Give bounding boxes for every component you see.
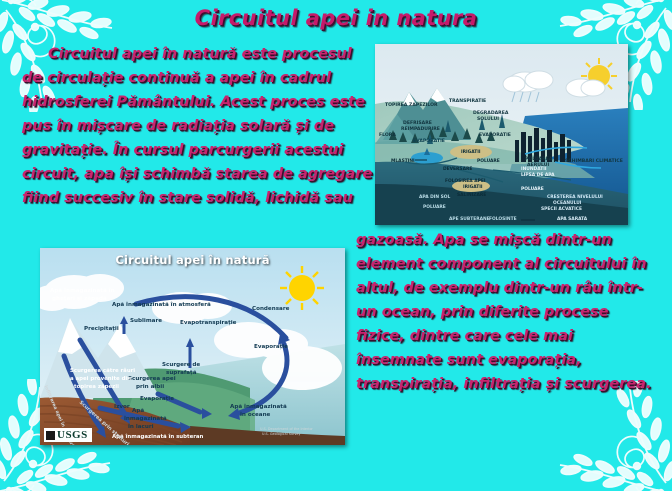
svg-text:prin albii: prin albii (136, 384, 164, 390)
svg-text:topirea zăpezii: topirea zăpezii (74, 384, 119, 390)
svg-text:POLUAREA: POLUAREA (525, 156, 553, 162)
svg-text:SALINIZARE: SALINIZARE (457, 192, 486, 198)
svg-text:Apă înmagazinată: Apă înmagazinată (230, 403, 287, 410)
svg-text:INUNDATII: INUNDATII (521, 166, 547, 172)
svg-text:a apei provenite din: a apei provenite din (70, 376, 131, 382)
svg-text:Condensare: Condensare (252, 306, 290, 312)
paragraph-right: gazoasă. Apa se mișcă dintr-un element c… (356, 228, 656, 396)
svg-text:U.S. Department of the Interio: U.S. Department of the Interior (260, 427, 313, 431)
svg-text:Apă înmagazinată în atmosferă: Apă înmagazinată în atmosferă (112, 301, 211, 308)
svg-text:IRIGATII: IRIGATII (463, 184, 483, 190)
svg-text:Precipitații: Precipitații (84, 326, 119, 332)
svg-text:Scurgerea către râuri: Scurgerea către râuri (70, 367, 135, 374)
slide-canvas: Circuitul apei in natura Circuitul apei … (0, 0, 672, 491)
svg-text:Apă înmagazinată în: Apă înmagazinată în (50, 287, 115, 294)
svg-text:SPECII ACVATICE: SPECII ACVATICE (541, 206, 582, 212)
svg-text:APE SUBTERANE: APE SUBTERANE (449, 216, 490, 222)
svg-text:EVAPORATIE: EVAPORATIE (413, 138, 445, 144)
image-usgs-water-cycle[interactable]: Apă înmagazinată în ghețari și zăpadă Ap… (40, 248, 345, 445)
usgs-logo: USGS (44, 428, 92, 442)
svg-text:FOLOSINTE: FOLOSINTE (489, 216, 517, 222)
paragraph-left: Circuitul apei în natură este procesul d… (22, 42, 374, 210)
svg-text:în lacuri: în lacuri (127, 423, 154, 430)
svg-text:TOPIREA ZAPEZILOR: TOPIREA ZAPEZILOR (385, 102, 438, 108)
svg-text:Evaporație: Evaporație (140, 396, 174, 402)
svg-text:DEVERSARE: DEVERSARE (443, 166, 472, 172)
svg-text:SCHIMBARI CLIMATICE: SCHIMBARI CLIMATICE (565, 158, 623, 164)
svg-text:IRIGATII: IRIGATII (461, 149, 481, 155)
svg-text:înmagazinată: înmagazinată (123, 415, 167, 422)
svg-text:TRANSPIRATIE: TRANSPIRATIE (449, 98, 486, 104)
svg-text:Evapotranspirație: Evapotranspirație (180, 320, 237, 326)
svg-text:Apă: Apă (132, 408, 144, 414)
svg-text:POLUARE: POLUARE (521, 186, 544, 192)
page-title: Circuitul apei in natura (0, 6, 672, 30)
svg-text:ghețari și zăpadă: ghețari și zăpadă (52, 296, 107, 302)
ornament-bottom-right-icon (538, 381, 672, 491)
svg-text:REIMPADURIRE: REIMPADURIRE (401, 126, 440, 132)
svg-text:LIPSA DE APA: LIPSA DE APA (521, 172, 555, 178)
image-water-cycle-human-impact[interactable]: TOPIREA ZAPEZILOR TRANSPIRATIE DEGRADARE… (375, 44, 628, 225)
svg-text:U.S. Geological Survey: U.S. Geological Survey (262, 432, 301, 436)
svg-text:Evaporație: Evaporație (254, 344, 288, 350)
svg-text:Sublimare: Sublimare (130, 318, 162, 324)
image-caption: Circuitul apei în natură (40, 253, 345, 267)
svg-text:FLORA: FLORA (379, 132, 396, 138)
svg-text:CRESTEREA NIVELULUI: CRESTEREA NIVELULUI (547, 194, 603, 200)
svg-text:Scurgere de: Scurgere de (162, 362, 200, 368)
svg-text:OCEANULUI: OCEANULUI (553, 200, 582, 206)
svg-text:POLUARE: POLUARE (423, 204, 446, 210)
svg-text:SOLULUI: SOLULUI (477, 116, 499, 122)
usgs-logo-mark (46, 431, 55, 440)
svg-text:APA DIN SOL: APA DIN SOL (419, 194, 451, 200)
svg-text:DEFRISARE: DEFRISARE (403, 120, 432, 126)
svg-text:Scurgerea apei: Scurgerea apei (128, 376, 176, 382)
svg-text:în oceane: în oceane (239, 411, 271, 418)
svg-text:EVAPORATIE: EVAPORATIE (479, 132, 511, 138)
usgs-logo-text: USGS (57, 429, 88, 441)
svg-text:POLUARE: POLUARE (477, 158, 500, 164)
svg-text:MLASTINI: MLASTINI (391, 158, 415, 164)
svg-text:APA SARATA: APA SARATA (557, 216, 588, 222)
svg-text:FOLOSIREA APEI: FOLOSIREA APEI (445, 178, 486, 184)
svg-text:DEGRADAREA: DEGRADAREA (473, 110, 509, 116)
svg-text:Izvor: Izvor (114, 404, 130, 410)
